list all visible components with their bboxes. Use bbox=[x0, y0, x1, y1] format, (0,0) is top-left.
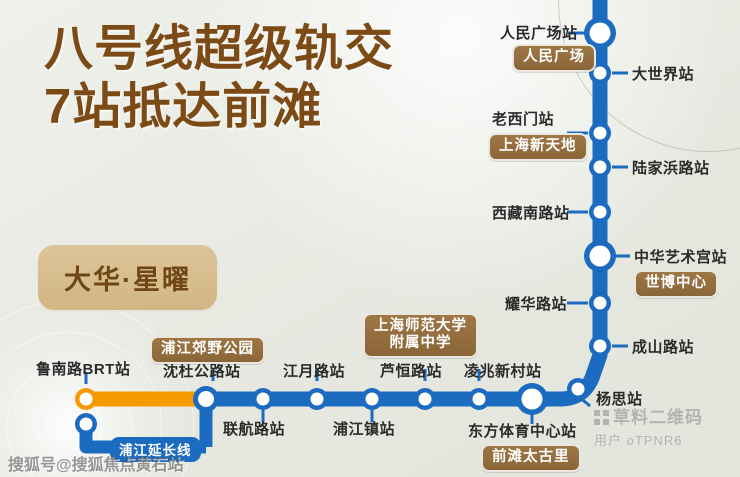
poster-canvas: 八号线超级轨交 7站抵达前滩 大华·星曜 bbox=[0, 0, 740, 477]
station-label-dashijie: 大世界站 bbox=[632, 63, 694, 84]
qr-code-icon bbox=[594, 410, 609, 425]
station-badge-shanghai-xintiandi: 上海新天地 bbox=[488, 133, 588, 161]
station-badge-pujiang-jiaoye-gongyuan: 浦江郊野公园 bbox=[150, 336, 265, 364]
watermark-qr-line: 草料二维码 bbox=[594, 403, 703, 428]
station-label-lianhang-lu: 联航路站 bbox=[223, 418, 285, 439]
station-badge-renmin-guangchang: 人民广场 bbox=[512, 44, 596, 72]
headline-line-1: 八号线超级轨交 bbox=[44, 24, 394, 76]
station-label-xizang-nan-lu: 西藏南路站 bbox=[492, 202, 570, 223]
station-badge-shibo-zhongxin: 世博中心 bbox=[634, 270, 718, 298]
station-label-renmin-guangchang: 人民广场站 bbox=[500, 22, 578, 43]
station-badge-shanghai-shifan-daxue: 上海师范大学 附属中学 bbox=[363, 313, 478, 358]
badge-line-1: 上海师范大学 bbox=[374, 318, 467, 335]
station-label-lingzhao-xincun: 凌兆新村站 bbox=[464, 360, 542, 381]
station-badge-qiantan-taikooli: 前滩太古里 bbox=[481, 444, 581, 472]
station-label-lujiabang-lu: 陆家浜路站 bbox=[632, 157, 710, 178]
watermark-user-line: 用户 oTPNR6 bbox=[594, 430, 703, 449]
watermark-bottom-right: 草料二维码 用户 oTPNR6 bbox=[594, 403, 703, 449]
brand-chip: 大华·星曜 bbox=[38, 245, 217, 310]
station-label-luheng-lu: 芦恒路站 bbox=[380, 360, 442, 381]
station-label-zhonghua-yishugong: 中华艺术宫站 bbox=[634, 246, 727, 267]
badge-line-2: 附属中学 bbox=[374, 335, 467, 352]
station-label-yaohua-lu: 耀华路站 bbox=[505, 293, 567, 314]
station-label-chengshan-lu: 成山路站 bbox=[632, 336, 694, 357]
station-label-dongfang-tiyu-zhongxin: 东方体育中心站 bbox=[468, 420, 577, 441]
brand-name: 大华·星曜 bbox=[64, 265, 191, 295]
station-label-lunan-lu-brt: 鲁南路BRT站 bbox=[36, 358, 130, 379]
watermark-qr-text: 草料二维码 bbox=[613, 408, 703, 427]
station-label-laoximen: 老西门站 bbox=[492, 108, 554, 129]
headline-line-2: 7站抵达前滩 bbox=[44, 82, 394, 134]
headline-block: 八号线超级轨交 7站抵达前滩 bbox=[44, 24, 394, 134]
station-label-jiangyue-lu: 江月路站 bbox=[283, 360, 345, 381]
watermark-bottom-left: 搜狐号@搜狐焦点黄石站 bbox=[8, 451, 184, 475]
station-dots-vertical bbox=[567, 17, 616, 400]
station-label-pujiang-zhen: 浦江镇站 bbox=[333, 418, 395, 439]
